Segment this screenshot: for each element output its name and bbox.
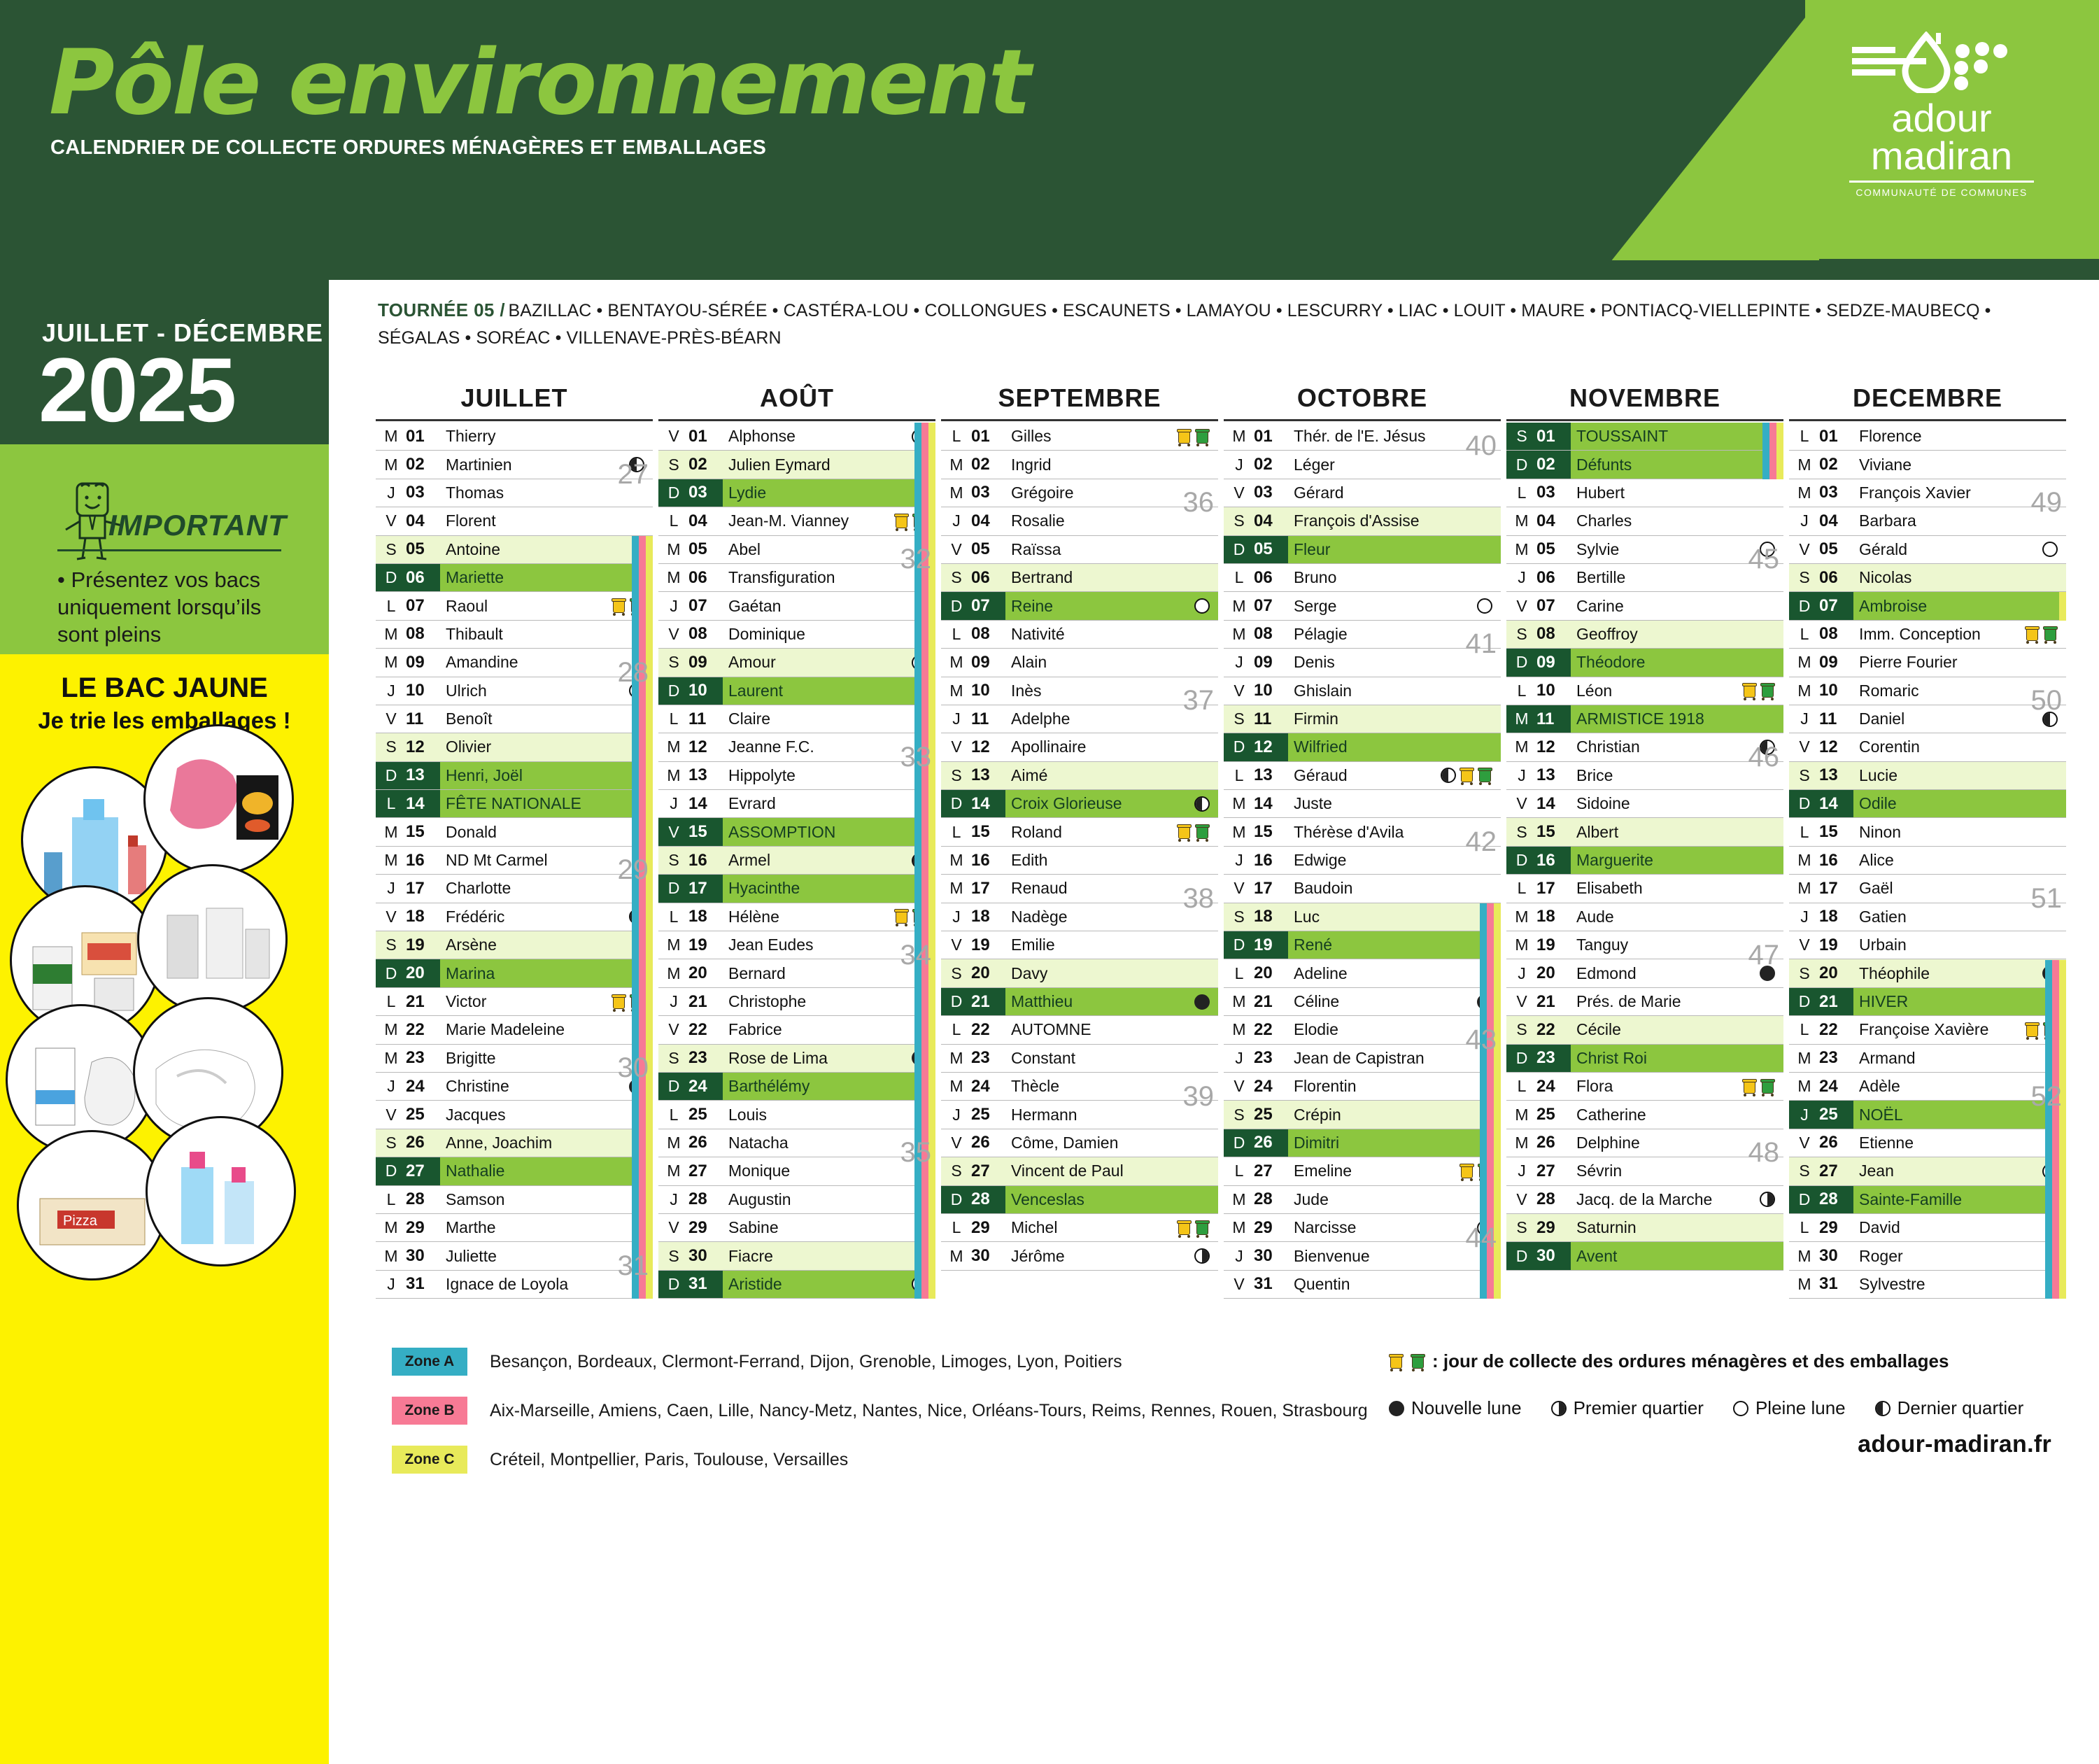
day-row[interactable]: S15Albert: [1506, 818, 1783, 846]
day-row[interactable]: V08Dominique: [658, 621, 935, 649]
day-row[interactable]: M08Thibault: [376, 621, 653, 649]
day-saint-name: Aude: [1571, 908, 1775, 926]
month-column-octobre: OCTOBREM01Thér. de l'E. JésusJ02LégerV03…: [1224, 383, 1501, 1299]
day-weekday: M: [948, 456, 965, 474]
day-saint-name: Laurent: [723, 682, 927, 700]
day-row[interactable]: J04Rosalie: [941, 507, 1218, 535]
green-bin-icon: [1411, 1353, 1425, 1371]
day-row[interactable]: D26Dimitri: [1224, 1129, 1501, 1157]
day-row[interactable]: M09Alain: [941, 649, 1218, 677]
day-row[interactable]: J23Jean de Capistran: [1224, 1045, 1501, 1073]
day-row[interactable]: M31Sylvestre: [1789, 1271, 2066, 1299]
collection-day-legend: : jour de collecte des ordures ménagères…: [1389, 1350, 2043, 1372]
day-row[interactable]: M29Narcisse: [1224, 1214, 1501, 1242]
day-row[interactable]: J18Nadège: [941, 903, 1218, 931]
day-date-cell: S12: [376, 733, 440, 761]
day-date-cell: V18: [376, 903, 440, 931]
day-date-cell: V15: [658, 818, 723, 845]
day-row[interactable]: M30Jérôme: [941, 1242, 1218, 1270]
day-row[interactable]: L28Samson: [376, 1186, 653, 1214]
day-row[interactable]: S26Anne, Joachim: [376, 1129, 653, 1157]
day-saint-name: Hyacinthe: [723, 879, 927, 898]
day-date-cell: J09: [1224, 649, 1288, 676]
day-row[interactable]: J24Christine: [376, 1073, 653, 1101]
day-number: 27: [1254, 1162, 1273, 1181]
day-date-cell: J11: [941, 705, 1005, 733]
day-row[interactable]: J13Brice: [1506, 762, 1783, 790]
day-row[interactable]: D19René: [1224, 931, 1501, 959]
day-row[interactable]: L20Adeline: [1224, 959, 1501, 987]
day-row[interactable]: D28Sainte-Famille: [1789, 1186, 2066, 1214]
day-row[interactable]: V01Alphonse: [658, 423, 935, 451]
day-row[interactable]: J02Léger: [1224, 451, 1501, 479]
day-date-cell: J24: [376, 1073, 440, 1100]
day-row[interactable]: S23Rose de Lima: [658, 1045, 935, 1073]
day-row[interactable]: V10Ghislain: [1224, 677, 1501, 705]
day-row[interactable]: J16Edwige: [1224, 847, 1501, 875]
day-row[interactable]: V15ASSOMPTION: [658, 818, 935, 846]
day-row[interactable]: D07Ambroise: [1789, 592, 2066, 620]
day-date-cell: L15: [1789, 818, 1853, 845]
day-row[interactable]: M18Aude: [1506, 903, 1783, 931]
day-row[interactable]: L29Michel: [941, 1214, 1218, 1242]
day-row[interactable]: M29Marthe: [376, 1214, 653, 1242]
day-row[interactable]: D28Venceslas: [941, 1186, 1218, 1214]
day-row[interactable]: M12Christian: [1506, 733, 1783, 761]
day-row[interactable]: L10Léon: [1506, 677, 1783, 705]
day-number: 14: [1819, 794, 1838, 814]
day-row[interactable]: M05Sylvie: [1506, 536, 1783, 564]
day-row[interactable]: V17Baudoin: [1224, 875, 1501, 903]
day-row[interactable]: M01Thierry: [376, 423, 653, 451]
day-number: 16: [1536, 851, 1555, 870]
day-date-cell: L22: [1789, 1016, 1853, 1043]
day-row[interactable]: D12Wilfried: [1224, 733, 1501, 761]
day-row[interactable]: M10Romaric: [1789, 677, 2066, 705]
day-row[interactable]: D17Hyacinthe: [658, 875, 935, 903]
day-weekday: L: [1231, 964, 1248, 983]
day-row[interactable]: S01TOUSSAINT: [1506, 423, 1783, 451]
day-date-cell: M05: [1506, 536, 1571, 563]
day-saint-name: Roland: [1005, 823, 1177, 842]
day-date-cell: D28: [941, 1186, 1005, 1213]
day-row[interactable]: M03François Xavier: [1789, 479, 2066, 507]
day-weekday: J: [1231, 1247, 1248, 1266]
day-row[interactable]: L27Emeline: [1224, 1157, 1501, 1185]
day-weekday: D: [1796, 597, 1813, 616]
day-number: 22: [1536, 1020, 1555, 1040]
day-row[interactable]: V24Florentin: [1224, 1073, 1501, 1101]
day-row[interactable]: M28Jude: [1224, 1186, 1501, 1214]
day-row[interactable]: S09Amour: [658, 649, 935, 677]
day-row[interactable]: J07Gaétan: [658, 592, 935, 620]
month-title-divider: [1506, 419, 1783, 421]
day-row[interactable]: D14Croix Glorieuse: [941, 790, 1218, 818]
day-saint-name: Thècle: [1005, 1077, 1210, 1096]
day-row[interactable]: M27Monique: [658, 1157, 935, 1185]
day-row[interactable]: S30Fiacre: [658, 1242, 935, 1270]
day-number: 17: [406, 879, 425, 898]
day-row[interactable]: M02Martinien: [376, 451, 653, 479]
day-row[interactable]: L08Nativité: [941, 621, 1218, 649]
day-date-cell: M25: [1506, 1101, 1571, 1128]
day-row[interactable]: J18Gatien: [1789, 903, 2066, 931]
day-saint-name: Barthélémy: [723, 1077, 927, 1096]
day-row[interactable]: V26Etienne: [1789, 1129, 2066, 1157]
day-number: 18: [406, 907, 425, 926]
day-date-cell: L22: [941, 1016, 1005, 1043]
day-icons: [612, 597, 653, 615]
day-row[interactable]: J06Bertille: [1506, 564, 1783, 592]
day-weekday: D: [1796, 794, 1813, 813]
day-weekday: L: [948, 427, 965, 446]
day-row[interactable]: S27Vincent de Paul: [941, 1157, 1218, 1185]
day-row[interactable]: J21Christophe: [658, 988, 935, 1016]
day-saint-name: Sidoine: [1571, 794, 1775, 813]
day-row[interactable]: D24Barthélémy: [658, 1073, 935, 1101]
day-date-cell: M01: [376, 423, 440, 450]
day-row[interactable]: V26Côme, Damien: [941, 1129, 1218, 1157]
day-row[interactable]: V22Fabrice: [658, 1016, 935, 1044]
day-saint-name: Arsène: [440, 936, 644, 954]
day-number: 16: [688, 851, 707, 870]
day-weekday: S: [1513, 1020, 1530, 1039]
day-row[interactable]: L14FÊTE NATIONALE: [376, 790, 653, 818]
day-weekday: M: [383, 1049, 400, 1068]
day-row[interactable]: D05Fleur: [1224, 536, 1501, 564]
day-row[interactable]: D27Nathalie: [376, 1157, 653, 1185]
day-row[interactable]: L13Géraud: [1224, 762, 1501, 790]
logo-divider: [1849, 181, 2034, 183]
day-row[interactable]: J04Barbara: [1789, 507, 2066, 535]
day-row[interactable]: M30Roger: [1789, 1242, 2066, 1270]
day-number: 10: [1819, 681, 1838, 700]
day-row[interactable]: M17Renaud: [941, 875, 1218, 903]
day-row[interactable]: V28Jacq. de la Marche: [1506, 1186, 1783, 1214]
day-row[interactable]: L15Ninon: [1789, 818, 2066, 846]
day-row[interactable]: M30Juliette: [376, 1242, 653, 1270]
day-row[interactable]: J11Daniel: [1789, 705, 2066, 733]
day-number: 19: [971, 936, 990, 955]
day-saint-name: Fleur: [1288, 540, 1492, 559]
day-row[interactable]: M16Edith: [941, 847, 1218, 875]
month-title: SEPTEMBRE: [941, 383, 1218, 419]
day-row[interactable]: D14Odile: [1789, 790, 2066, 818]
day-row[interactable]: V05Raïssa: [941, 536, 1218, 564]
day-row[interactable]: D10Laurent: [658, 677, 935, 705]
day-row[interactable]: J17Charlotte: [376, 875, 653, 903]
day-row[interactable]: M21Céline: [1224, 988, 1501, 1016]
day-row[interactable]: L08Imm. Conception: [1789, 621, 2066, 649]
day-weekday: L: [1796, 823, 1813, 842]
day-date-cell: S22: [1506, 1016, 1571, 1043]
day-row[interactable]: M07Serge: [1224, 592, 1501, 620]
day-row[interactable]: M23Armand: [1789, 1045, 2066, 1073]
day-row[interactable]: L21Victor: [376, 988, 653, 1016]
day-date-cell: S06: [941, 564, 1005, 591]
day-row[interactable]: M23Constant: [941, 1045, 1218, 1073]
day-row[interactable]: D23Christ Roi: [1506, 1045, 1783, 1073]
day-number: 17: [688, 879, 707, 898]
day-row[interactable]: S22Cécile: [1506, 1016, 1783, 1044]
day-row[interactable]: S29Saturnin: [1506, 1214, 1783, 1242]
day-weekday: D: [383, 568, 400, 587]
day-weekday: J: [948, 511, 965, 530]
day-date-cell: V12: [941, 733, 1005, 761]
day-row[interactable]: J25Hermann: [941, 1101, 1218, 1129]
day-row[interactable]: J03Thomas: [376, 479, 653, 507]
full-moon-icon: [2042, 542, 2058, 557]
day-icons: [1742, 682, 1783, 700]
day-row[interactable]: L17Elisabeth: [1506, 875, 1783, 903]
day-row[interactable]: V03Gérard: [1224, 479, 1501, 507]
day-row[interactable]: M09Amandine: [376, 649, 653, 677]
day-row[interactable]: M24Adèle: [1789, 1073, 2066, 1101]
day-number: 08: [1536, 624, 1555, 644]
day-saint-name: Flora: [1571, 1077, 1742, 1096]
day-number: 01: [971, 427, 990, 446]
day-row[interactable]: M11ARMISTICE 1918: [1506, 705, 1783, 733]
day-row[interactable]: S06Bertrand: [941, 564, 1218, 592]
day-row[interactable]: V19Urbain: [1789, 931, 2066, 959]
day-weekday: D: [1513, 851, 1530, 870]
day-row[interactable]: M13Hippolyte: [658, 762, 935, 790]
day-row[interactable]: J25NOËL: [1789, 1101, 2066, 1129]
day-row[interactable]: S12Olivier: [376, 733, 653, 761]
day-weekday: S: [665, 456, 682, 474]
day-row[interactable]: S25Crépin: [1224, 1101, 1501, 1129]
day-row[interactable]: J10Ulrich: [376, 677, 653, 705]
day-weekday: M: [948, 879, 965, 898]
day-row[interactable]: M22Marie Madeleine: [376, 1016, 653, 1044]
day-row[interactable]: M05Abel: [658, 536, 935, 564]
day-row[interactable]: D06Mariette: [376, 564, 653, 592]
day-row[interactable]: M01Thér. de l'E. Jésus: [1224, 423, 1501, 451]
day-row[interactable]: M10Inès: [941, 677, 1218, 705]
day-weekday: M: [1796, 653, 1813, 672]
day-row[interactable]: M19Jean Eudes: [658, 931, 935, 959]
day-row[interactable]: M19Tanguy: [1506, 931, 1783, 959]
day-row[interactable]: L04Jean-M. Vianney: [658, 507, 935, 535]
day-number: 03: [1819, 483, 1838, 502]
day-row[interactable]: D09Théodore: [1506, 649, 1783, 677]
day-row[interactable]: D07Reine: [941, 592, 1218, 620]
day-row[interactable]: D30Avent: [1506, 1242, 1783, 1270]
day-date-cell: M23: [941, 1045, 1005, 1072]
day-row[interactable]: D02Défunts: [1506, 451, 1783, 479]
day-row[interactable]: L15Roland: [941, 818, 1218, 846]
day-row[interactable]: D31Aristide: [658, 1271, 935, 1299]
day-number: 05: [1254, 539, 1273, 559]
month-title-divider: [1789, 419, 2066, 421]
day-row[interactable]: S16Armel: [658, 847, 935, 875]
day-weekday: V: [1513, 1190, 1530, 1209]
day-row[interactable]: L03Hubert: [1506, 479, 1783, 507]
day-row[interactable]: V29Sabine: [658, 1214, 935, 1242]
day-number: 03: [971, 483, 990, 502]
day-date-cell: V25: [376, 1101, 440, 1128]
day-date-cell: J20: [1506, 959, 1571, 987]
day-row[interactable]: V19Emilie: [941, 931, 1218, 959]
day-saint-name: Quentin: [1288, 1275, 1492, 1294]
day-row[interactable]: V04Florent: [376, 507, 653, 535]
day-date-cell: M28: [1224, 1186, 1288, 1213]
day-date-cell: M11: [1506, 705, 1571, 733]
day-date-cell: S08: [1506, 621, 1571, 648]
day-row[interactable]: V31Quentin: [1224, 1271, 1501, 1299]
day-row[interactable]: L29David: [1789, 1214, 2066, 1242]
day-icons: [1177, 1219, 1218, 1237]
day-date-cell: D05: [1224, 536, 1288, 563]
day-row[interactable]: M17Gaël: [1789, 875, 2066, 903]
day-date-cell: M12: [658, 733, 723, 761]
day-row[interactable]: J31Ignace de Loyola: [376, 1271, 653, 1299]
day-weekday: M: [383, 456, 400, 474]
day-weekday: S: [1513, 823, 1530, 842]
day-number: 22: [1819, 1020, 1838, 1040]
day-row[interactable]: L18Hélène: [658, 903, 935, 931]
day-row[interactable]: S04François d'Assise: [1224, 507, 1501, 535]
day-number: 29: [971, 1218, 990, 1238]
day-saint-name: ND Mt Carmel: [440, 851, 644, 870]
day-row[interactable]: D20Marina: [376, 959, 653, 987]
day-row[interactable]: S20Davy: [941, 959, 1218, 987]
day-row[interactable]: S27Jean: [1789, 1157, 2066, 1185]
day-saint-name: Lydie: [723, 484, 927, 502]
day-row[interactable]: S19Arsène: [376, 931, 653, 959]
day-weekday: M: [1796, 1275, 1813, 1294]
day-number: 26: [1536, 1133, 1555, 1152]
day-row[interactable]: V07Carine: [1506, 592, 1783, 620]
day-weekday: J: [1796, 908, 1813, 926]
day-saint-name: Henri, Joël: [440, 766, 644, 785]
day-row[interactable]: M04Charles: [1506, 507, 1783, 535]
day-row[interactable]: M22Elodie: [1224, 1016, 1501, 1044]
day-number: 02: [1536, 455, 1555, 474]
day-row[interactable]: M24Thècle: [941, 1073, 1218, 1101]
day-icons: [1760, 542, 1783, 557]
day-row[interactable]: M20Bernard: [658, 959, 935, 987]
day-date-cell: L07: [376, 592, 440, 619]
day-row[interactable]: S13Lucie: [1789, 762, 2066, 790]
day-row[interactable]: L22AUTOMNE: [941, 1016, 1218, 1044]
day-row[interactable]: D16Marguerite: [1506, 847, 1783, 875]
day-row[interactable]: J11Adelphe: [941, 705, 1218, 733]
day-row[interactable]: S11Firmin: [1224, 705, 1501, 733]
day-saint-name: Gilles: [1005, 427, 1177, 446]
day-row[interactable]: D03Lydie: [658, 479, 935, 507]
day-row[interactable]: L22Françoise Xavière: [1789, 1016, 2066, 1044]
day-number: 13: [1254, 765, 1273, 785]
day-row[interactable]: S13Aimé: [941, 762, 1218, 790]
day-saint-name: Emilie: [1005, 936, 1210, 954]
day-row[interactable]: M15Donald: [376, 818, 653, 846]
day-number: 19: [1254, 936, 1273, 955]
day-row[interactable]: M23Brigitte: [376, 1045, 653, 1073]
day-icons: [629, 1079, 653, 1094]
day-saint-name: Thomas: [440, 484, 644, 502]
day-row[interactable]: J27Sévrin: [1506, 1157, 1783, 1185]
day-row[interactable]: M06Transfiguration: [658, 564, 935, 592]
day-row[interactable]: V12Apollinaire: [941, 733, 1218, 761]
day-row[interactable]: D21HIVER: [1789, 988, 2066, 1016]
day-row[interactable]: L24Flora: [1506, 1073, 1783, 1101]
day-row[interactable]: M26Natacha: [658, 1129, 935, 1157]
day-row[interactable]: J30Bienvenue: [1224, 1242, 1501, 1270]
day-weekday: D: [1231, 936, 1248, 954]
day-weekday: S: [383, 1134, 400, 1152]
day-row[interactable]: S06Nicolas: [1789, 564, 2066, 592]
day-row[interactable]: S05Antoine: [376, 536, 653, 564]
day-row[interactable]: M16Alice: [1789, 847, 2066, 875]
day-icons: [612, 993, 653, 1011]
day-row[interactable]: S18Luc: [1224, 903, 1501, 931]
day-row[interactable]: S08Geoffroy: [1506, 621, 1783, 649]
day-number: 04: [1819, 511, 1838, 531]
day-row[interactable]: M15Thérèse d'Avila: [1224, 818, 1501, 846]
day-row[interactable]: M02Viviane: [1789, 451, 2066, 479]
day-saint-name: Edwige: [1288, 851, 1492, 870]
day-row[interactable]: L25Louis: [658, 1101, 935, 1129]
day-row[interactable]: V12Corentin: [1789, 733, 2066, 761]
day-row[interactable]: M09Pierre Fourier: [1789, 649, 2066, 677]
day-row[interactable]: J09Denis: [1224, 649, 1501, 677]
day-row[interactable]: L11Claire: [658, 705, 935, 733]
day-row[interactable]: V25Jacques: [376, 1101, 653, 1129]
day-row[interactable]: V14Sidoine: [1506, 790, 1783, 818]
day-row[interactable]: M26Delphine: [1506, 1129, 1783, 1157]
day-saint-name: Ulrich: [440, 682, 629, 700]
last-quarter-moon-icon: [912, 853, 927, 868]
day-row[interactable]: L01Florence: [1789, 423, 2066, 451]
day-row[interactable]: J20Edmond: [1506, 959, 1783, 987]
day-weekday: M: [1513, 710, 1530, 728]
day-row[interactable]: S20Théophile: [1789, 959, 2066, 987]
day-number: 12: [971, 738, 990, 757]
day-row[interactable]: V11Benoît: [376, 705, 653, 733]
day-row[interactable]: L01Gilles: [941, 423, 1218, 451]
day-number: 27: [971, 1162, 990, 1181]
day-saint-name: Fabrice: [723, 1020, 927, 1039]
day-row[interactable]: V05Gérald: [1789, 536, 2066, 564]
day-row[interactable]: M25Catherine: [1506, 1101, 1783, 1129]
day-date-cell: L03: [1506, 479, 1571, 507]
day-row[interactable]: V21Prés. de Marie: [1506, 988, 1783, 1016]
day-row[interactable]: M08Pélagie: [1224, 621, 1501, 649]
day-row[interactable]: D13Henri, Joël: [376, 762, 653, 790]
day-row[interactable]: M16ND Mt Carmel: [376, 847, 653, 875]
moon-legend-item: Pleine lune: [1733, 1397, 1846, 1419]
day-row[interactable]: J14Evrard: [658, 790, 935, 818]
day-row[interactable]: V18Frédéric: [376, 903, 653, 931]
day-row[interactable]: L06Bruno: [1224, 564, 1501, 592]
day-saint-name: Serge: [1288, 597, 1477, 616]
day-saint-name: François d'Assise: [1288, 511, 1492, 530]
day-row[interactable]: L07Raoul: [376, 592, 653, 620]
yellow-bin-icon: [2025, 625, 2040, 643]
day-saint-name: Aimé: [1005, 766, 1210, 785]
day-row[interactable]: M12Jeanne F.C.: [658, 733, 935, 761]
day-row[interactable]: M14Juste: [1224, 790, 1501, 818]
day-row[interactable]: M03Grégoire: [941, 479, 1218, 507]
logo-word-adour: adour: [1844, 99, 2040, 136]
day-saint-name: Elisabeth: [1571, 879, 1775, 898]
day-row[interactable]: J28Augustin: [658, 1186, 935, 1214]
month-column-decembre: DECEMBREL01FlorenceM02VivianeM03François…: [1789, 383, 2066, 1299]
day-row[interactable]: D21Matthieu: [941, 988, 1218, 1016]
day-row[interactable]: M02Ingrid: [941, 451, 1218, 479]
day-row[interactable]: S02Julien Eymard: [658, 451, 935, 479]
